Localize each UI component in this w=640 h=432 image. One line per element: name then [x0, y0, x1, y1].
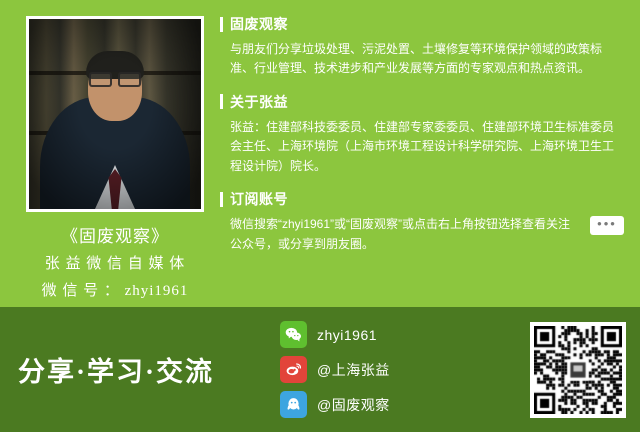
section-about-zhangyi: 关于张益 张益：住建部科技委委员、住建部专家委委员、住建部环境卫生标准委员会主任… — [220, 92, 624, 176]
portrait-vignette — [29, 19, 201, 209]
qr-code-canvas — [534, 326, 622, 414]
section-header: 订阅账号 — [220, 189, 624, 209]
poster: 《固废观察》 张 益 微 信 自 媒 体 微 信 号 ： zhyi1961 固废… — [0, 0, 640, 432]
section-marker-icon — [220, 192, 223, 207]
caption-wechat-id: 微 信 号 ： zhyi1961 — [42, 284, 189, 300]
section-guanfei-guancha: 固废观察 与朋友们分享垃圾处理、污泥处置、土壤修复等环境保护领域的政策标准、行业… — [220, 14, 624, 79]
portrait-photo — [26, 16, 204, 212]
caption-subtitle: 张 益 微 信 自 媒 体 — [42, 257, 189, 273]
section-title: 订阅账号 — [230, 189, 288, 209]
section-body: 张益：住建部科技委委员、住建部专家委委员、住建部环境卫生标准委员会主任、上海环境… — [220, 118, 624, 176]
info-column: 固废观察 与朋友们分享垃圾处理、污泥处置、土壤修复等环境保护领域的政策标准、行业… — [212, 0, 640, 307]
section-marker-icon — [220, 17, 223, 32]
social-row-wechat[interactable]: zhyi1961 — [280, 321, 530, 349]
social-list: zhyi1961 @上海张益 — [280, 321, 530, 419]
qr-code[interactable] — [530, 322, 626, 418]
social-label-qq: @固废观察 — [317, 395, 390, 415]
social-row-weibo[interactable]: @上海张益 — [280, 356, 530, 384]
section-header: 固废观察 — [220, 14, 624, 34]
poster-footer: 分享·学习·交流 zhyi1961 — [0, 307, 640, 432]
social-row-qq[interactable]: @固废观察 — [280, 391, 530, 419]
section-title: 关于张益 — [230, 92, 288, 112]
section-title: 固废观察 — [230, 14, 288, 34]
social-label-weibo: @上海张益 — [317, 360, 390, 380]
poster-top-section: 《固废观察》 张 益 微 信 自 媒 体 微 信 号 ： zhyi1961 固废… — [0, 0, 640, 307]
weibo-icon — [280, 356, 307, 383]
profile-column: 《固废观察》 张 益 微 信 自 媒 体 微 信 号 ： zhyi1961 — [0, 0, 212, 307]
more-options-button[interactable]: ••• — [590, 216, 624, 235]
section-body: 与朋友们分享垃圾处理、污泥处置、土壤修复等环境保护领域的政策标准、行业管理、技术… — [220, 40, 624, 79]
footer-slogan: 分享·学习·交流 — [18, 350, 280, 389]
wechat-icon — [280, 321, 307, 348]
section-header: 关于张益 — [220, 92, 624, 112]
section-subscribe: 订阅账号 微信搜索“zhyi1961”或“固废观察”或点击右上角按钮选择查看关注… — [220, 189, 624, 254]
caption-title: 《固废观察》 — [42, 228, 189, 246]
qq-icon — [280, 391, 307, 418]
section-marker-icon — [220, 94, 223, 109]
section-body-wrapper: 微信搜索“zhyi1961”或“固废观察”或点击右上角按钮选择查看关注公众号，或… — [220, 215, 624, 254]
profile-caption: 《固废观察》 张 益 微 信 自 媒 体 微 信 号 ： zhyi1961 — [42, 228, 189, 299]
section-body: 微信搜索“zhyi1961”或“固废观察”或点击右上角按钮选择查看关注公众号，或… — [230, 217, 570, 250]
social-label-wechat: zhyi1961 — [317, 327, 377, 343]
